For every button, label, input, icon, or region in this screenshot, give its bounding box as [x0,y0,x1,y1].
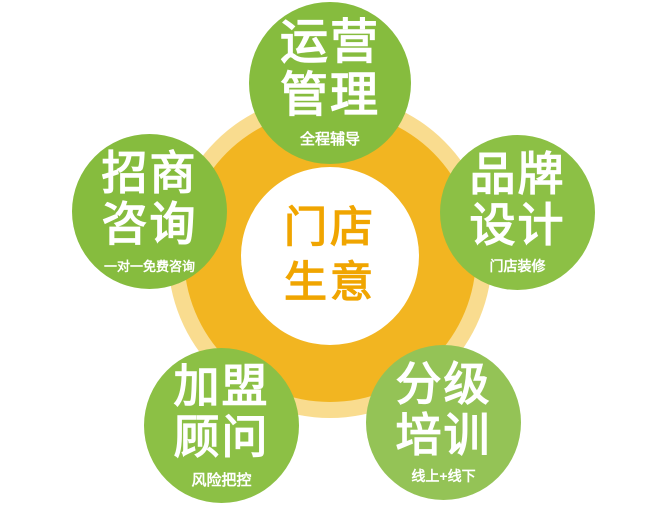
center-label: 门店 生意 [241,167,419,345]
node-title-line2: 咨询 [102,199,198,250]
node-title: 加盟 顾问 [174,361,270,462]
node-title: 招商 咨询 [102,148,198,249]
node-subtitle: 线上+线下 [411,466,475,486]
node-title-line2: 顾问 [174,412,270,463]
node-title-line1: 分级 [396,358,492,410]
center-label-line1: 门店 [284,201,376,256]
node-subtitle: 一对一免费咨询 [104,256,195,275]
node-title-line1: 运营 [280,16,380,69]
node-title-line1: 加盟 [174,360,270,412]
node-franchise-advisor[interactable]: 加盟 顾问 风险把控 [144,348,299,503]
center-label-line2: 生意 [284,256,376,311]
node-title: 运营 管理 [280,17,380,123]
node-title-line2: 培训 [396,410,492,461]
node-title: 分级 培训 [396,359,492,460]
node-title-line1: 招商 [102,147,198,199]
node-title-line2: 管理 [280,70,380,123]
node-brand-design[interactable]: 品牌 设计 门店装修 [440,135,595,290]
node-tiered-training[interactable]: 分级 培训 线上+线下 [366,345,521,500]
node-title-line1: 品牌 [470,148,566,200]
node-subtitle: 门店装修 [490,256,546,276]
node-operations-management[interactable]: 运营 管理 全程辅导 [249,2,411,164]
node-title-line2: 设计 [470,200,566,251]
node-investment-consulting[interactable]: 招商 咨询 一对一免费咨询 [72,134,227,289]
node-title: 品牌 设计 [470,149,566,250]
node-subtitle: 全程辅导 [300,128,360,149]
diagram-canvas: 门店 生意 运营 管理 全程辅导 品牌 设计 门店装修 分级 培训 线上+线下 … [0,0,660,511]
node-subtitle: 风险把控 [191,469,251,490]
